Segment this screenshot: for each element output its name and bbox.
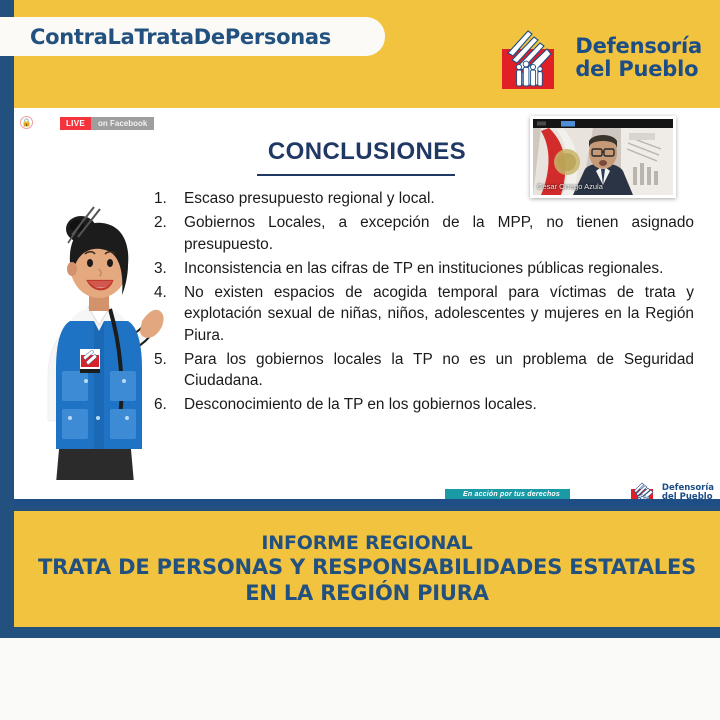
page-title: ContraLaTrataDePersonas xyxy=(30,25,331,49)
conclusion-text-5: Para los gobiernos locales la TP no es u… xyxy=(184,349,694,392)
poster-root: ContraLaTrataDePersonas xyxy=(0,0,720,720)
conclusion-number-2: 2. xyxy=(154,212,184,255)
conclusion-number-4: 4. xyxy=(154,282,184,346)
report-banner: INFORME REGIONAL TRATA DE PERSONAS Y RES… xyxy=(14,511,720,627)
conclusions-list: 1. Escaso presupuesto regional y local. … xyxy=(154,188,694,419)
conclusion-text-3: Inconsistencia en las cifras de TP en in… xyxy=(184,258,694,279)
banner-line-1: INFORME REGIONAL xyxy=(261,532,472,555)
header-bar: ContraLaTrataDePersonas xyxy=(0,0,720,108)
slide-footer-blue-line xyxy=(14,499,720,506)
live-label: LIVE xyxy=(60,117,91,130)
footer-logos-bar: EMBAJADA DE ESPAÑA EN COLOMBIA aecid CEN… xyxy=(0,638,720,720)
conclusion-text-2: Gobiernos Locales, a excepción de la MPP… xyxy=(184,212,694,255)
conclusion-item-2: 2. Gobiernos Locales, a excepción de la … xyxy=(154,212,694,255)
presentation-slide: 🔒 LIVE on Facebook xyxy=(14,108,720,506)
lock-icon: 🔒 xyxy=(20,116,33,129)
conclusion-number-3: 3. xyxy=(154,258,184,279)
live-platform-label: on Facebook xyxy=(91,117,154,130)
banner-line-2: TRATA DE PERSONAS Y RESPONSABILIDADES ES… xyxy=(38,555,696,581)
brand-line-2: del Pueblo xyxy=(575,58,702,81)
slide-left-accent-bar xyxy=(0,108,14,506)
conclusion-text-6: Desconocimiento de la TP en los gobierno… xyxy=(184,394,694,415)
defensoria-brand-header: Defensoría del Pueblo xyxy=(498,27,702,89)
conclusion-item-4: 4. No existen espacios de acogida tempor… xyxy=(154,282,694,346)
defensoria-brand-text: Defensoría del Pueblo xyxy=(575,35,702,80)
conclusion-number-1: 1. xyxy=(154,188,184,209)
conclusion-item-5: 5. Para los gobiernos locales la TP no e… xyxy=(154,349,694,392)
conclusion-item-1: 1. Escaso presupuesto regional y local. xyxy=(154,188,694,209)
slide-title: CONCLUSIONES xyxy=(14,138,720,166)
slide-footer-strip: En acción por tus derechos xyxy=(14,480,720,506)
brand-line-1: Defensoría xyxy=(575,35,702,58)
hashtag-title-pill: ContraLaTrataDePersonas xyxy=(0,17,385,56)
live-stream-badge: LIVE on Facebook xyxy=(60,116,154,131)
defensoria-staff-illustration-icon xyxy=(24,203,174,506)
conclusion-number-5: 5. xyxy=(154,349,184,392)
conclusion-text-1: Escaso presupuesto regional y local. xyxy=(184,188,694,209)
conclusion-item-3: 3. Inconsistencia en las cifras de TP en… xyxy=(154,258,694,279)
slide-title-underline xyxy=(257,174,455,176)
conclusion-number-6: 6. xyxy=(154,394,184,415)
defensoria-hand-people-logo-icon xyxy=(498,27,566,89)
banner-line-3: EN LA REGIÓN PIURA xyxy=(245,581,489,607)
conclusion-item-6: 6. Desconocimiento de la TP en los gobie… xyxy=(154,394,694,415)
conclusion-text-4: No existen espacios de acogida temporal … xyxy=(184,282,694,346)
